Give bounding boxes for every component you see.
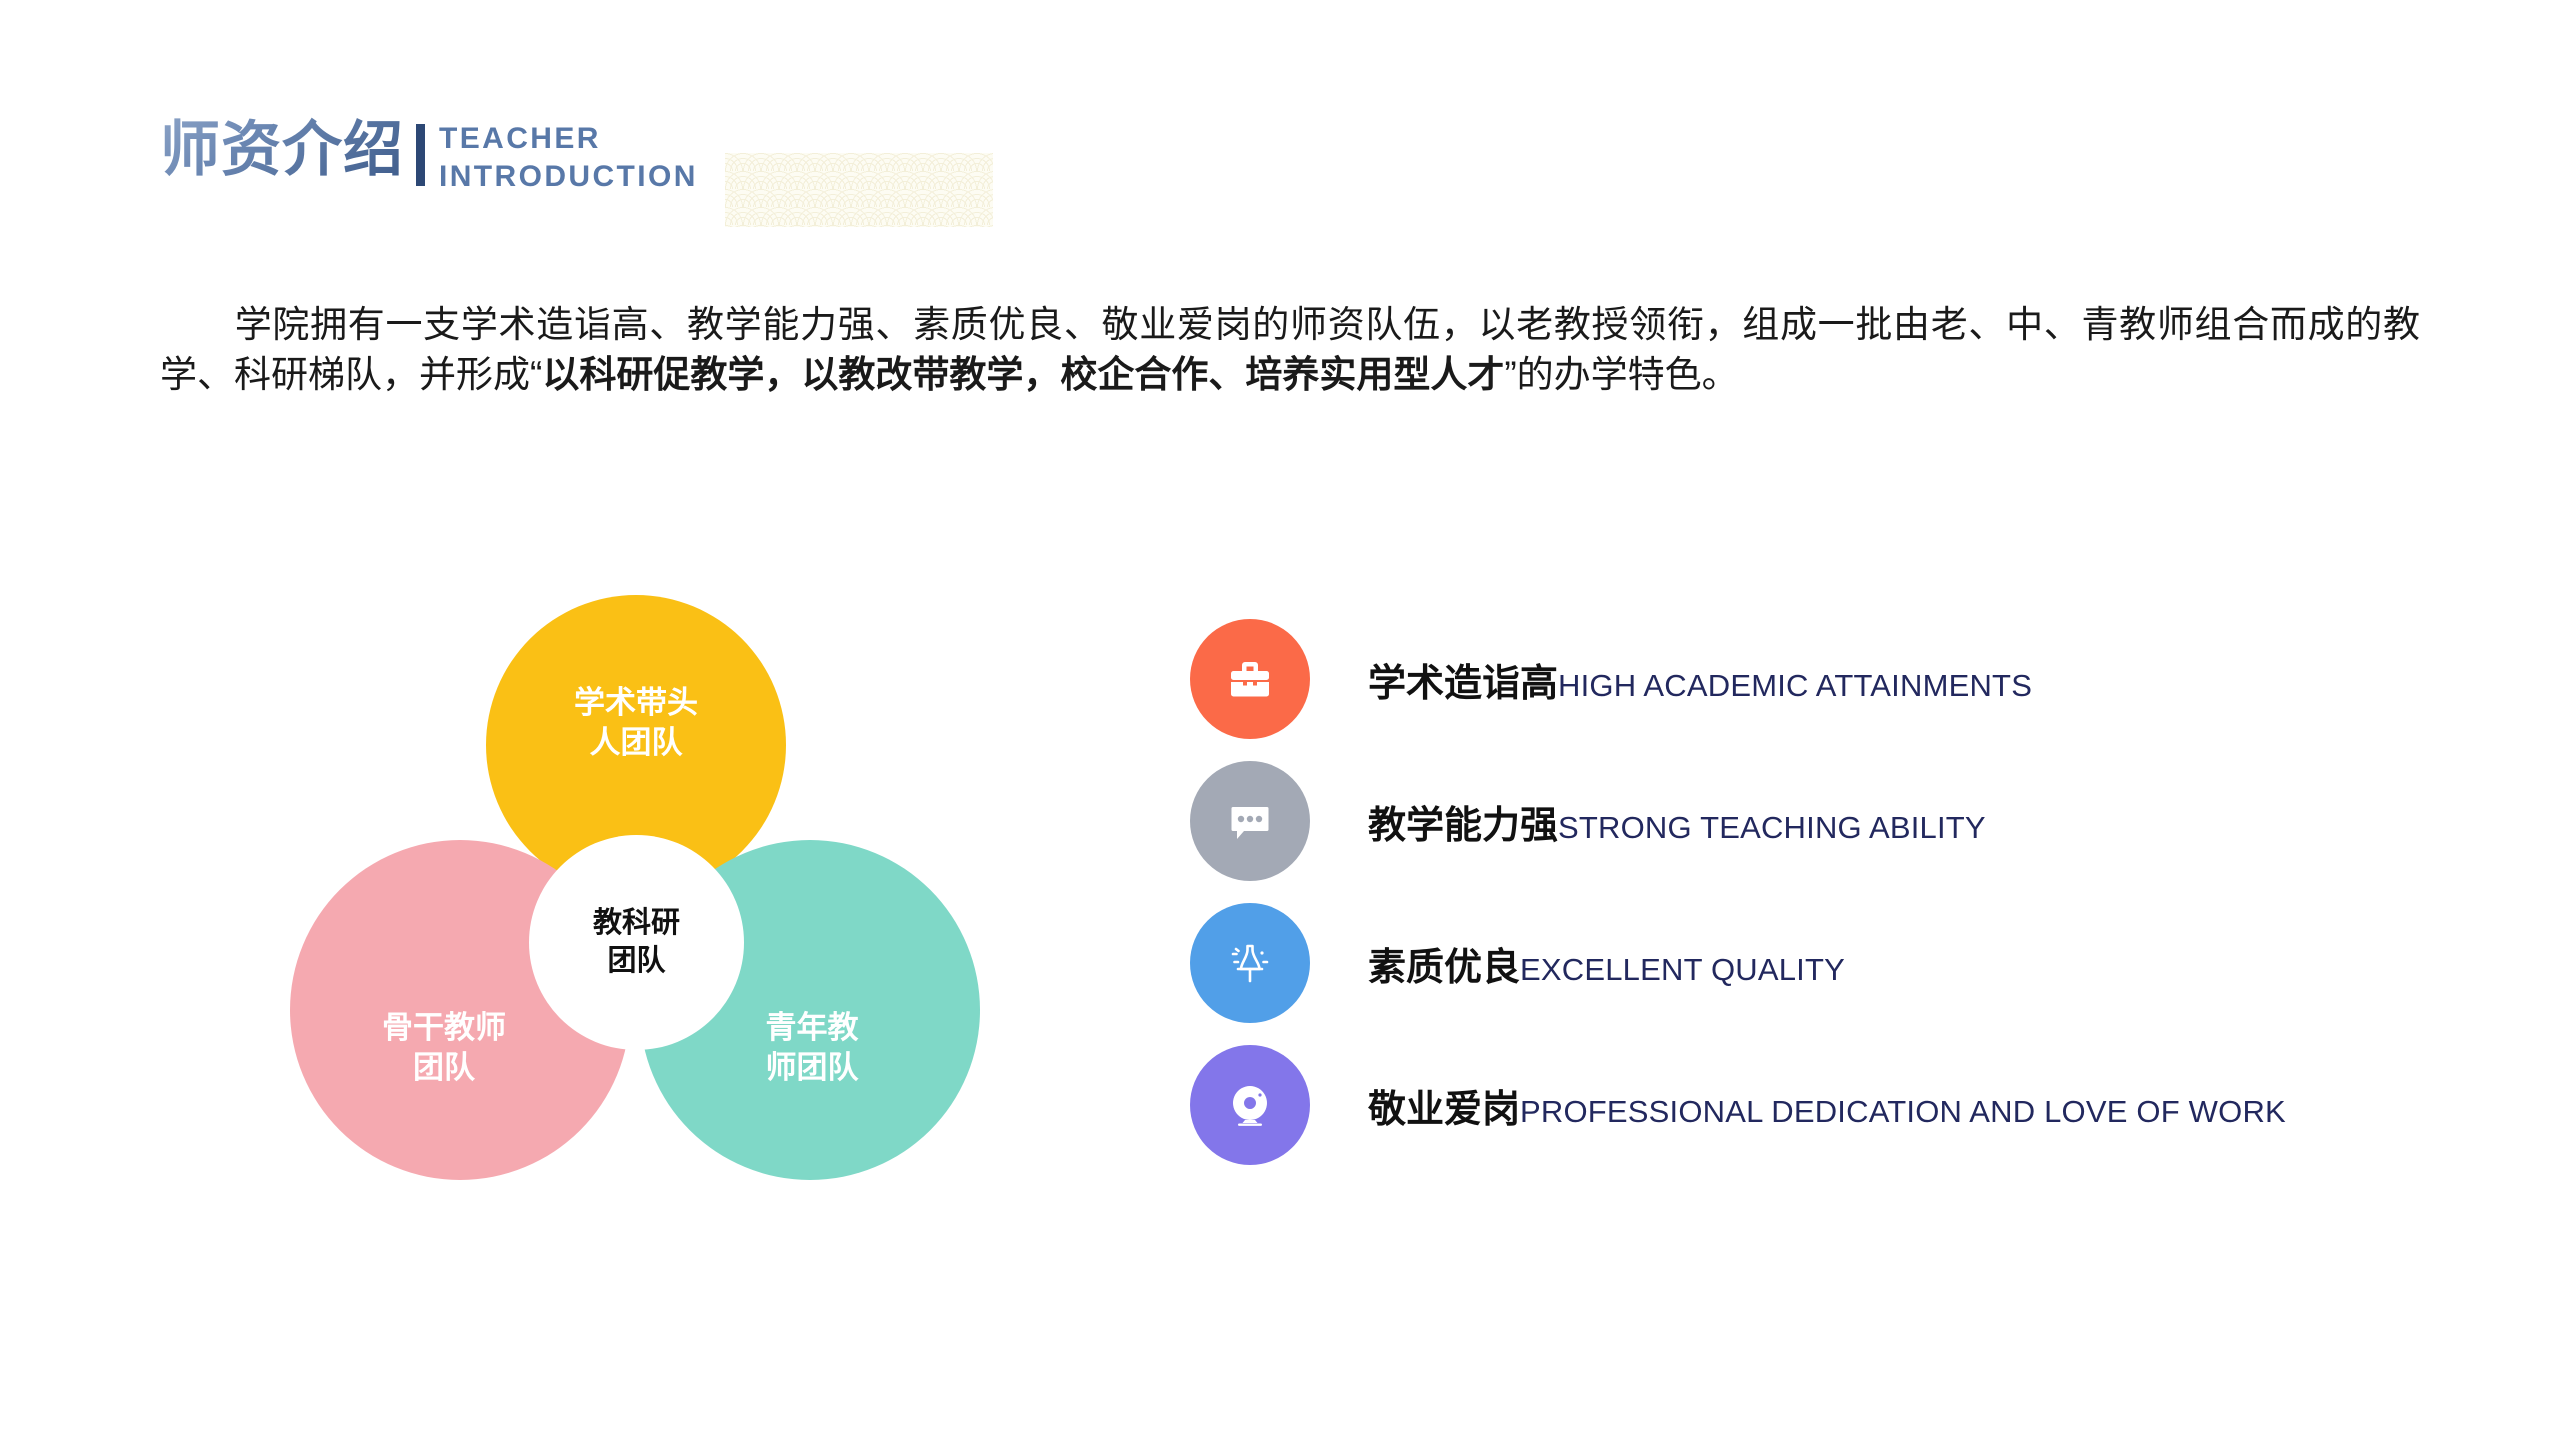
paragraph-bold-phrase: 以科研促教学，以教改带教学，校企合作、培养实用型人才 xyxy=(542,354,1504,395)
venn-diagram: 学术带头 人团队 骨干教师 团队 青年教 师团队 教科研 团队 xyxy=(290,595,980,1180)
feature-label-cn: 学术造诣高 xyxy=(1368,652,1558,707)
quote-open: “ xyxy=(530,354,542,395)
venn-label-academic-leaders: 学术带头 人团队 xyxy=(574,683,698,762)
feature-label-en: PROFESSIONAL DEDICATION AND LOVE OF WORK xyxy=(1520,1094,2286,1130)
venn-center-label: 教科研 团队 xyxy=(593,905,680,980)
venn-label-line-1: 青年教 xyxy=(766,1008,859,1048)
desk-lamp-icon xyxy=(1190,903,1310,1023)
feature-list: 学术造诣高 HIGH ACADEMIC ATTAINMENTS 教学能力强 ST… xyxy=(1190,608,2450,1176)
venn-center-label-line-1: 教科研 xyxy=(593,905,680,943)
page-header: 师资介绍 TEACHER INTRODUCTION xyxy=(160,108,698,240)
page-subtitle-line-2: INTRODUCTION xyxy=(439,158,698,196)
quote-close: ” xyxy=(1504,354,1516,395)
feature-text-professional-dedication: 敬业爱岗 PROFESSIONAL DEDICATION AND LOVE OF… xyxy=(1368,1078,2286,1133)
slide-canvas: 师资介绍 TEACHER INTRODUCTION 学院拥有一支学术造诣高、教学… xyxy=(0,0,2560,1440)
page-subtitle: TEACHER INTRODUCTION xyxy=(439,108,698,195)
feature-text-excellent-quality: 素质优良 EXCELLENT QUALITY xyxy=(1368,936,1845,991)
feature-item-excellent-quality[interactable]: 素质优良 EXCELLENT QUALITY xyxy=(1190,892,2450,1034)
feature-label-en: STRONG TEACHING ABILITY xyxy=(1558,810,1986,846)
page-title: 师资介绍 xyxy=(160,108,404,180)
feature-text-high-academic-attainments: 学术造诣高 HIGH ACADEMIC ATTAINMENTS xyxy=(1368,652,2032,707)
venn-label-line-1: 学术带头 xyxy=(574,683,698,723)
venn-label-young-teachers: 青年教 师团队 xyxy=(766,1008,859,1087)
venn-label-backbone-teachers: 骨干教师 团队 xyxy=(382,1008,506,1087)
venn-label-line-1: 骨干教师 xyxy=(382,1008,506,1048)
webcam-icon xyxy=(1190,1045,1310,1165)
paragraph-part-2: 的办学特色。 xyxy=(1517,354,1739,395)
page-subtitle-line-1: TEACHER xyxy=(439,120,698,158)
toolbox-icon xyxy=(1190,619,1310,739)
feature-item-high-academic-attainments[interactable]: 学术造诣高 HIGH ACADEMIC ATTAINMENTS xyxy=(1190,608,2450,750)
title-divider xyxy=(416,124,425,186)
venn-label-line-2: 人团队 xyxy=(574,723,698,763)
feature-text-strong-teaching-ability: 教学能力强 STRONG TEACHING ABILITY xyxy=(1368,794,1986,849)
feature-label-en: EXCELLENT QUALITY xyxy=(1520,952,1845,988)
feature-label-cn: 素质优良 xyxy=(1368,936,1520,991)
venn-label-line-2: 团队 xyxy=(382,1048,506,1088)
venn-center-label-line-2: 团队 xyxy=(593,943,680,981)
feature-label-cn: 教学能力强 xyxy=(1368,794,1558,849)
intro-paragraph: 学院拥有一支学术造诣高、教学能力强、素质优良、敬业爱岗的师资队伍，以老教授领衔，… xyxy=(160,300,2420,400)
venn-circle-center[interactable]: 教科研 团队 xyxy=(529,835,744,1050)
feature-item-strong-teaching-ability[interactable]: 教学能力强 STRONG TEACHING ABILITY xyxy=(1190,750,2450,892)
scallop-pattern-icon xyxy=(725,153,993,227)
feature-item-professional-dedication[interactable]: 敬业爱岗 PROFESSIONAL DEDICATION AND LOVE OF… xyxy=(1190,1034,2450,1176)
feature-label-cn: 敬业爱岗 xyxy=(1368,1078,1520,1133)
venn-label-line-2: 师团队 xyxy=(766,1048,859,1088)
feature-label-en: HIGH ACADEMIC ATTAINMENTS xyxy=(1558,668,2032,704)
speech-bubble-icon xyxy=(1190,761,1310,881)
